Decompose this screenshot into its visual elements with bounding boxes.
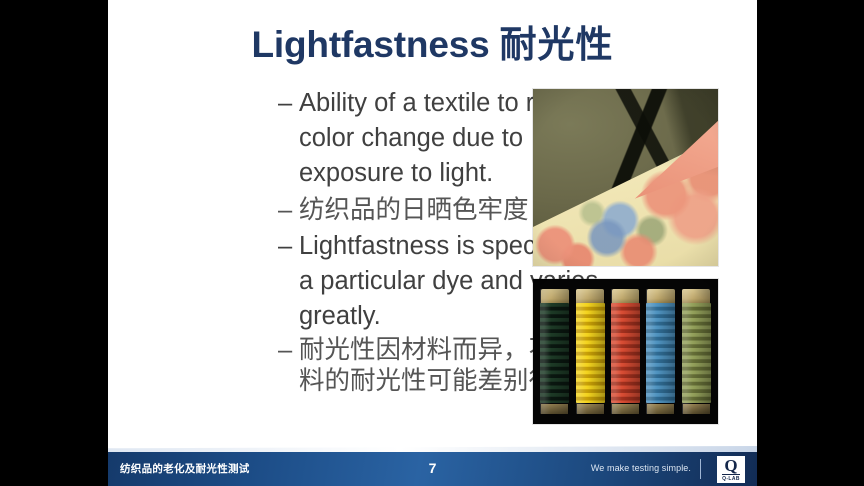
presentation-slide: Lightfastness耐光性 – Ability of a textile … xyxy=(108,0,757,486)
bullet-marker: – xyxy=(278,86,299,121)
photo-vignette xyxy=(533,279,718,424)
title-chinese: 耐光性 xyxy=(499,22,613,66)
faded-floral-fabric-photo xyxy=(533,89,718,266)
screenshot-viewport: Lightfastness耐光性 – Ability of a textile … xyxy=(0,0,864,486)
photo-vignette xyxy=(533,89,718,266)
slide-footer: 纺织品的老化及耐光性测试 7 We make testing simple. Q… xyxy=(108,452,757,486)
qlab-logo-text: Q-LAB xyxy=(722,474,740,482)
bullet-marker: – xyxy=(278,192,299,228)
footer-tagline: We make testing simple. xyxy=(591,463,691,473)
bullet-marker: – xyxy=(278,229,299,264)
footer-divider xyxy=(700,459,701,479)
bullet-marker: – xyxy=(278,335,299,366)
dyed-thread-spools-photo xyxy=(533,279,718,424)
qlab-logo-mark: Q xyxy=(724,458,737,474)
qlab-logo: Q Q-LAB xyxy=(717,456,745,483)
page-title: Lightfastness耐光性 xyxy=(108,14,757,68)
title-english: Lightfastness xyxy=(252,24,490,65)
